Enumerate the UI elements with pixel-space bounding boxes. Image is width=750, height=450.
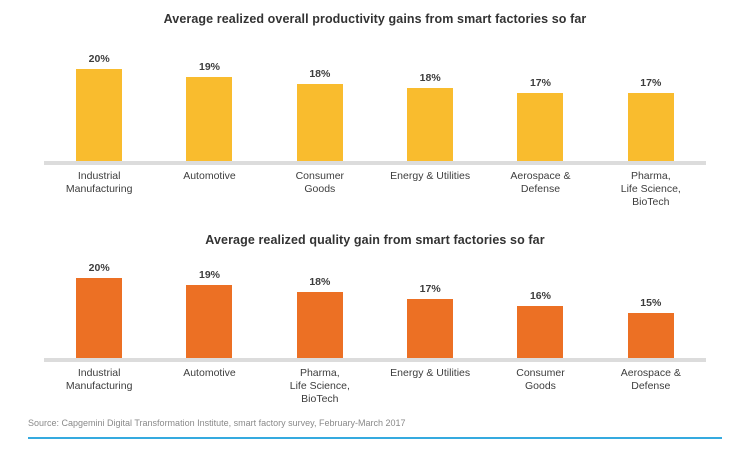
category-label: Pharma, Life Science, BioTech bbox=[596, 170, 706, 209]
bar[interactable] bbox=[186, 285, 232, 358]
source-note: Source: Capgemini Digital Transformation… bbox=[28, 418, 405, 428]
bar-slot: 17% bbox=[485, 41, 595, 161]
x-axis-line bbox=[44, 358, 706, 362]
quality-plot-area: 20% 19% 18% 17% 16% 15% bbox=[44, 252, 706, 358]
bar-value-label: 20% bbox=[89, 263, 110, 274]
bar[interactable] bbox=[407, 88, 453, 161]
bar-value-label: 16% bbox=[530, 291, 551, 302]
x-axis-line bbox=[44, 161, 706, 165]
category-label: Aerospace & Defense bbox=[485, 170, 595, 209]
bar-value-label: 15% bbox=[640, 298, 661, 309]
bar-slot: 16% bbox=[485, 252, 595, 358]
productivity-chart: Average realized overall productivity ga… bbox=[0, 0, 750, 222]
bar-value-label: 19% bbox=[199, 62, 220, 73]
bar-value-label: 17% bbox=[640, 78, 661, 89]
bar[interactable] bbox=[297, 84, 343, 161]
bar-slot: 19% bbox=[154, 41, 264, 161]
bar-slot: 20% bbox=[44, 252, 154, 358]
bar-slot: 18% bbox=[265, 41, 375, 161]
chart-title-productivity: Average realized overall productivity ga… bbox=[0, 12, 750, 26]
bar[interactable] bbox=[76, 69, 122, 161]
category-label: Aerospace & Defense bbox=[596, 367, 706, 406]
footer: Source: Capgemini Digital Transformation… bbox=[0, 418, 750, 450]
bar[interactable] bbox=[517, 306, 563, 358]
category-label: Energy & Utilities bbox=[375, 367, 485, 406]
chart-title-quality: Average realized quality gain from smart… bbox=[0, 233, 750, 247]
bar-value-label: 18% bbox=[420, 73, 441, 84]
bar-value-label: 18% bbox=[309, 277, 330, 288]
accent-rule bbox=[28, 437, 722, 439]
bar-value-label: 17% bbox=[530, 78, 551, 89]
category-label: Automotive bbox=[154, 367, 264, 406]
quality-chart: Average realized quality gain from smart… bbox=[0, 222, 750, 418]
category-label: Pharma, Life Science, BioTech bbox=[265, 367, 375, 406]
bar[interactable] bbox=[628, 313, 674, 358]
bar-slot: 18% bbox=[265, 252, 375, 358]
bar[interactable] bbox=[297, 292, 343, 358]
bar[interactable] bbox=[628, 93, 674, 161]
bar-value-label: 20% bbox=[89, 54, 110, 65]
bar[interactable] bbox=[407, 299, 453, 358]
bar-value-label: 19% bbox=[199, 270, 220, 281]
bar-value-label: 17% bbox=[420, 284, 441, 295]
chart-page: Average realized overall productivity ga… bbox=[0, 0, 750, 450]
productivity-plot-area: 20% 19% 18% 18% 17% 17% bbox=[44, 41, 706, 161]
quality-category-labels: Industrial Manufacturing Automotive Phar… bbox=[44, 367, 706, 406]
category-label: Energy & Utilities bbox=[375, 170, 485, 209]
bar-slot: 20% bbox=[44, 41, 154, 161]
bar-slot: 18% bbox=[375, 41, 485, 161]
category-label: Consumer Goods bbox=[265, 170, 375, 209]
bar-slot: 17% bbox=[596, 41, 706, 161]
category-label: Industrial Manufacturing bbox=[44, 367, 154, 406]
bar-slot: 15% bbox=[596, 252, 706, 358]
bar[interactable] bbox=[76, 278, 122, 358]
category-label: Industrial Manufacturing bbox=[44, 170, 154, 209]
bar-slot: 19% bbox=[154, 252, 264, 358]
category-label: Automotive bbox=[154, 170, 264, 209]
bar-slot: 17% bbox=[375, 252, 485, 358]
bar[interactable] bbox=[517, 93, 563, 161]
bar-value-label: 18% bbox=[309, 69, 330, 80]
category-label: Consumer Goods bbox=[485, 367, 595, 406]
productivity-category-labels: Industrial Manufacturing Automotive Cons… bbox=[44, 170, 706, 209]
bar[interactable] bbox=[186, 77, 232, 161]
